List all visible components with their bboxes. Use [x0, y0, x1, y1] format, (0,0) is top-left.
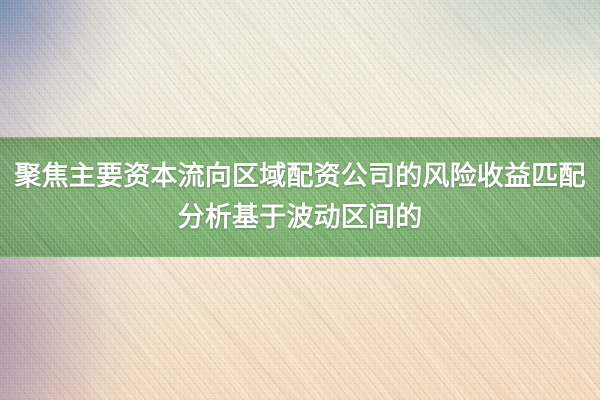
headline-banner: 聚焦主要资本流向区域配资公司的风险收益匹配分析基于波动区间的 [0, 137, 600, 257]
poster-canvas: 聚焦主要资本流向区域配资公司的风险收益匹配分析基于波动区间的 [0, 0, 600, 400]
headline-text: 聚焦主要资本流向区域配资公司的风险收益匹配分析基于波动区间的 [6, 156, 594, 238]
headline-container: 聚焦主要资本流向区域配资公司的风险收益匹配分析基于波动区间的 [0, 137, 600, 257]
